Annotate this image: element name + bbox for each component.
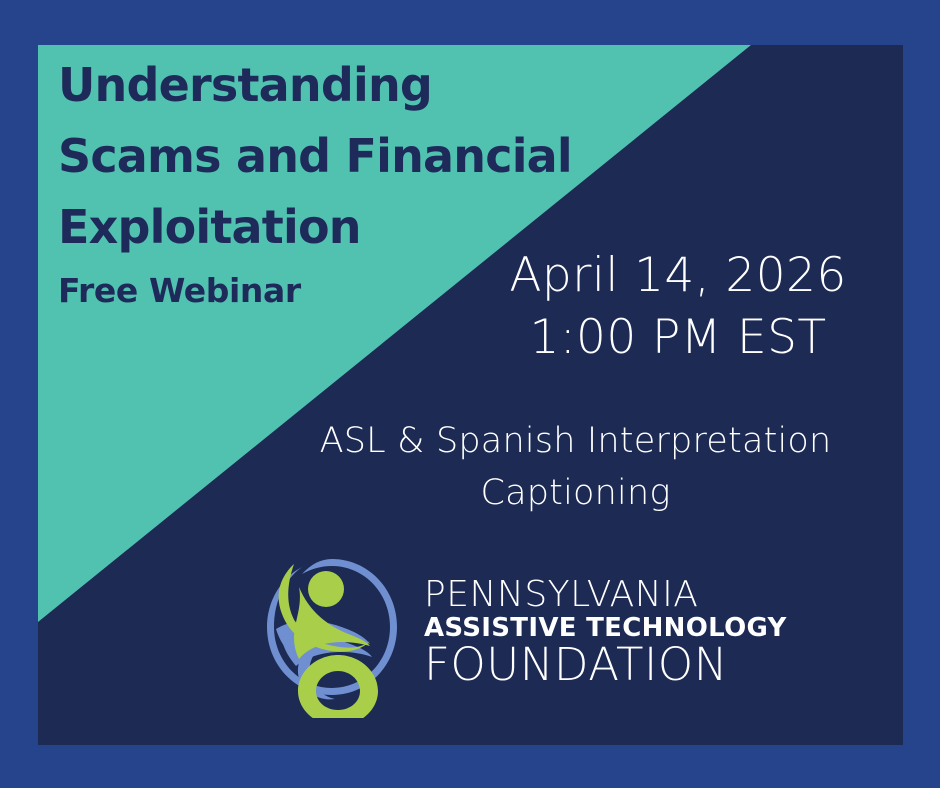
logo-wordmark: PENNSYLVANIA ASSISTIVE TECHNOLOGY FOUNDA… — [424, 573, 787, 687]
accessibility-services-block: ASL & Spanish Interpretation Captioning — [253, 415, 898, 519]
logo-word-line-3: FOUNDATION — [424, 642, 787, 687]
event-time: 1:00 PM EST — [468, 307, 888, 369]
logo-word-line-1: PENNSYLVANIA — [424, 577, 787, 613]
event-date: April 14, 2026 — [468, 245, 888, 307]
accessibility-line-2: Captioning — [253, 467, 898, 519]
poster-inner-panel: Understanding Scams and Financial Exploi… — [38, 45, 903, 745]
event-datetime-block: April 14, 2026 1:00 PM EST — [468, 245, 888, 369]
webinar-promo-poster: Understanding Scams and Financial Exploi… — [0, 0, 940, 788]
headline-line-1: Understanding — [58, 50, 698, 121]
organization-logo-lockup: PENNSYLVANIA ASSISTIVE TECHNOLOGY FOUNDA… — [250, 540, 720, 720]
headline-line-2: Scams and Financial — [58, 121, 698, 192]
patf-logo-icon — [250, 543, 410, 718]
accessibility-line-1: ASL & Spanish Interpretation — [253, 415, 898, 467]
